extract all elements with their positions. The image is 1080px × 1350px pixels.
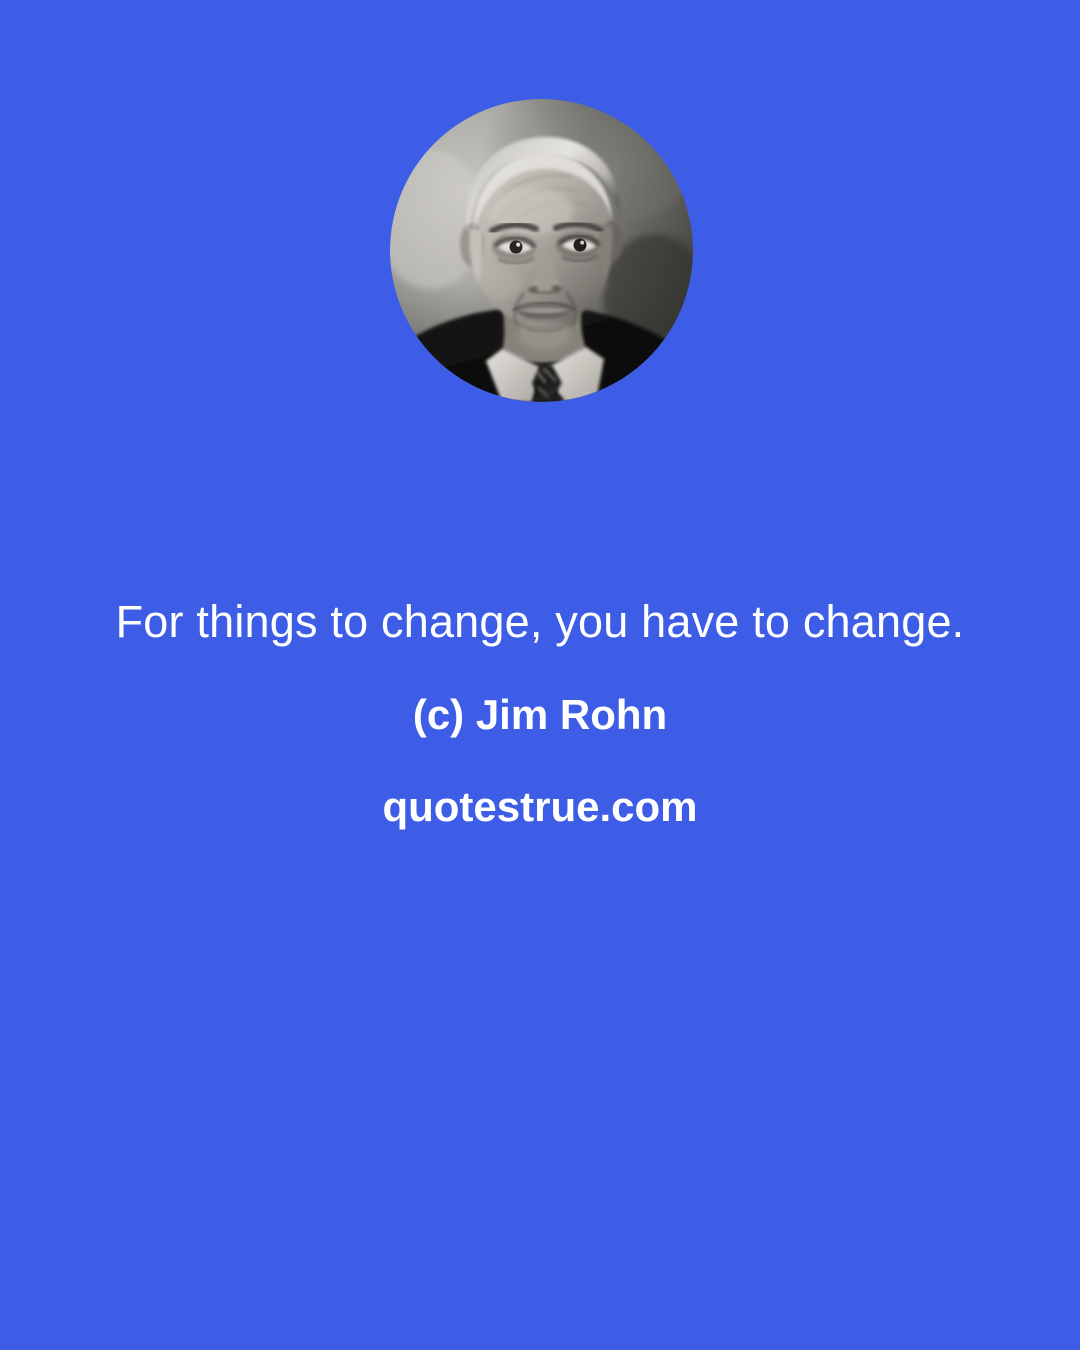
author-portrait-photo: [390, 99, 693, 402]
quote-text-block: For things to change, you have to change…: [0, 575, 1080, 853]
author-portrait: [390, 99, 693, 402]
quote-text: For things to change, you have to change…: [0, 575, 1080, 669]
source-website: quotestrue.com: [0, 761, 1080, 853]
quote-card: For things to change, you have to change…: [0, 0, 1080, 1350]
quote-author: (c) Jim Rohn: [0, 669, 1080, 761]
